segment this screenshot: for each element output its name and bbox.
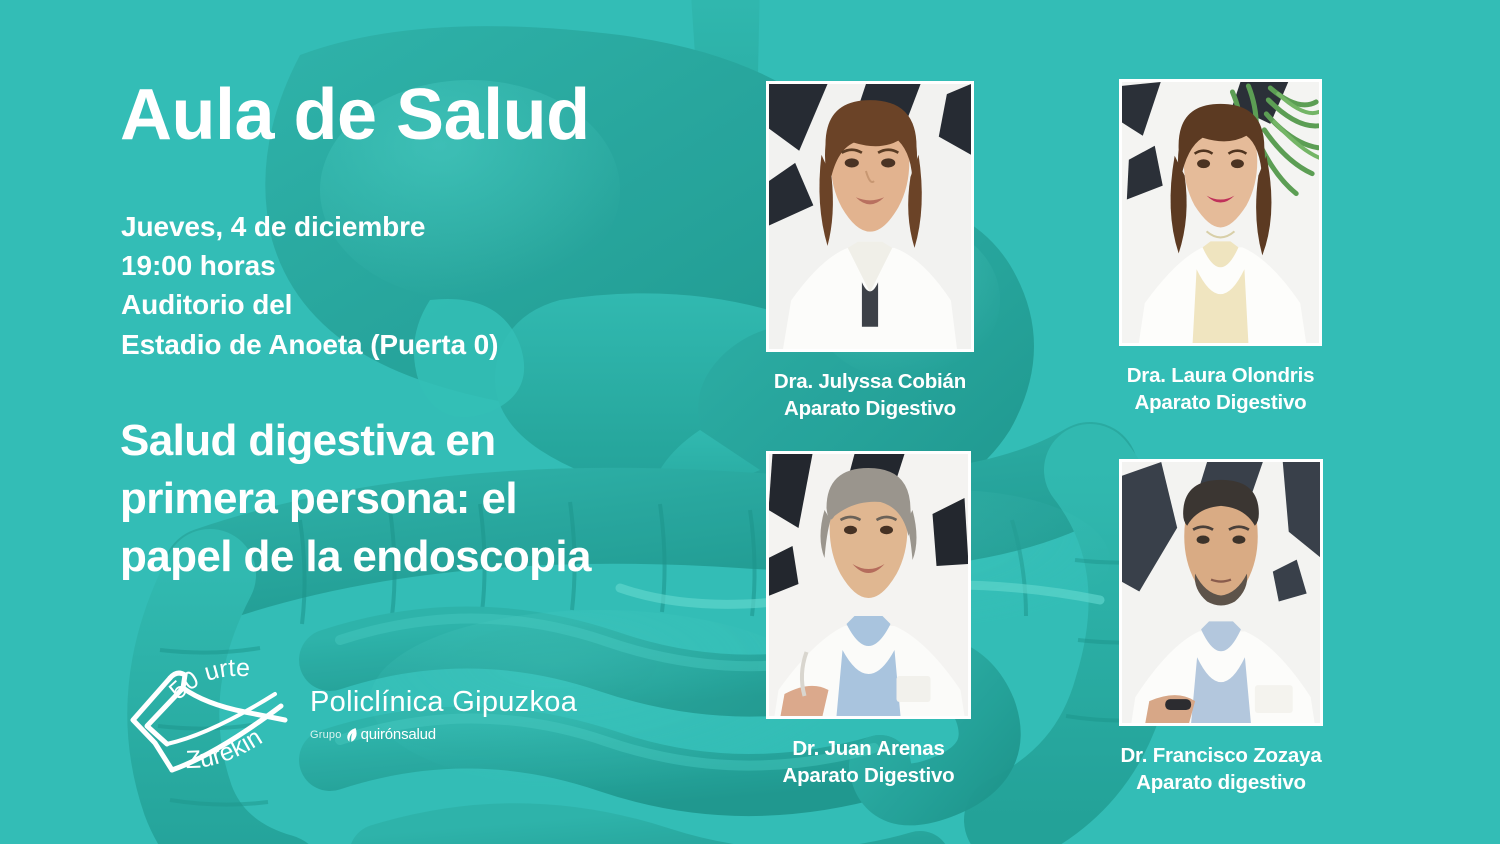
speaker-name: Dra. Julyssa Cobián <box>766 369 974 396</box>
anniversary-logo-50-urte-zurekin: 50 urte Zurekin <box>125 648 295 780</box>
speaker-photo-juan-arenas <box>766 451 971 719</box>
svg-text:50 urte: 50 urte <box>164 654 251 705</box>
speaker-name: Dr. Francisco Zozaya <box>1119 743 1323 770</box>
event-venue-line2: Estadio de Anoeta (Puerta 0) <box>121 325 498 364</box>
group-prefix-label: Grupo <box>310 729 342 741</box>
speaker-card: Dr. Francisco Zozaya Aparato digestivo <box>1119 459 1323 796</box>
group-name-label: quirónsalud <box>361 726 436 743</box>
speaker-caption: Dr. Juan Arenas Aparato Digestivo <box>766 736 971 789</box>
speaker-photo-laura-olondris <box>1119 79 1322 346</box>
clinic-logo: Policlínica Gipuzkoa Grupo quirónsalud <box>310 688 610 768</box>
speaker-caption: Dra. Julyssa Cobián Aparato Digestivo <box>766 369 974 422</box>
anniversary-top-text: 50 urte <box>164 654 251 705</box>
speaker-specialty: Aparato Digestivo <box>1119 390 1322 417</box>
talk-title-line3: papel de la endoscopia <box>120 528 591 586</box>
speaker-card: Dra. Julyssa Cobián Aparato Digestivo <box>766 81 974 422</box>
speaker-specialty: Aparato Digestivo <box>766 396 974 423</box>
talk-title-line2: primera persona: el <box>120 470 591 528</box>
speaker-name: Dra. Laura Olondris <box>1119 363 1322 390</box>
group-logo-line: Grupo quirónsalud <box>310 726 610 743</box>
speaker-caption: Dr. Francisco Zozaya Aparato digestivo <box>1119 743 1323 796</box>
event-venue-line1: Auditorio del <box>121 285 498 324</box>
speaker-specialty: Aparato digestivo <box>1119 770 1323 797</box>
speaker-name: Dr. Juan Arenas <box>766 736 971 763</box>
talk-title: Salud digestiva en primera persona: el p… <box>120 412 591 586</box>
quironsalud-leaf-icon <box>345 727 358 743</box>
event-poster: Aula de Salud Jueves, 4 de diciembre 19:… <box>0 0 1500 844</box>
speaker-photo-francisco-zozaya <box>1119 459 1323 726</box>
page-title: Aula de Salud <box>120 78 590 154</box>
anniversary-bottom-text: Zurekin <box>185 723 267 774</box>
speaker-card: Dr. Juan Arenas Aparato Digestivo <box>766 451 971 789</box>
svg-text:Zurekin: Zurekin <box>185 723 267 774</box>
speaker-specialty: Aparato Digestivo <box>766 763 971 790</box>
event-date: Jueves, 4 de diciembre <box>121 207 498 246</box>
speaker-caption: Dra. Laura Olondris Aparato Digestivo <box>1119 363 1322 416</box>
clinic-name: Policlínica Gipuzkoa <box>310 688 610 717</box>
speaker-photo-julyssa-cobian <box>766 81 974 352</box>
poster-left-column: Aula de Salud Jueves, 4 de diciembre 19:… <box>120 0 760 844</box>
talk-title-line1: Salud digestiva en <box>120 412 591 470</box>
event-time: 19:00 horas <box>121 246 498 285</box>
logo-block: 50 urte Zurekin Policlínica Gipuzkoa Gru… <box>120 640 680 790</box>
event-details: Jueves, 4 de diciembre 19:00 horas Audit… <box>121 207 498 364</box>
speaker-card: Dra. Laura Olondris Aparato Digestivo <box>1119 79 1322 416</box>
